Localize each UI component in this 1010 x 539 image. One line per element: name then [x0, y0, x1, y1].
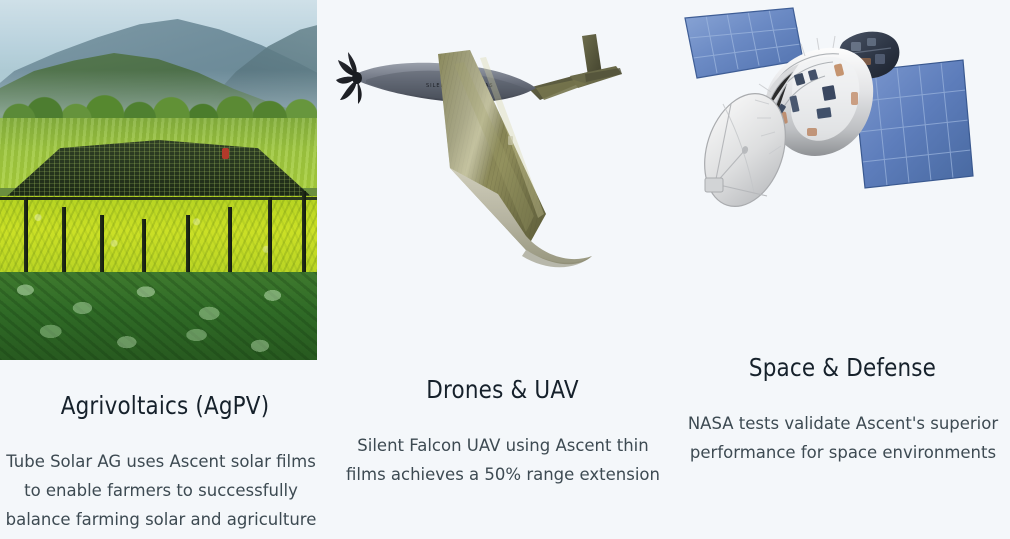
card-space-defense: Space & Defense NASA tests validate Asce…: [675, 0, 1010, 539]
card-drones-uav: SILENT FALCON UAS Drones &: [330, 0, 675, 539]
card-title-space-defense: Space & Defense: [698, 353, 986, 382]
card-agrivoltaics: Agrivoltaics (AgPV) Tube Solar AG uses A…: [0, 0, 330, 539]
foreground-leafy-crop: [0, 272, 317, 360]
card-body-agrivoltaics: Tube Solar AG uses Ascent solar films to…: [0, 447, 326, 534]
feature-cards-page: Agrivoltaics (AgPV) Tube Solar AG uses A…: [0, 0, 1010, 539]
card-title-agrivoltaics: Agrivoltaics (AgPV): [23, 391, 307, 420]
far-wing: [536, 80, 588, 100]
agrivoltaics-farm-photo: [0, 0, 317, 360]
card-body-drones-uav: Silent Falcon UAV using Ascent thin film…: [335, 431, 671, 489]
wing-hardpoint: [508, 136, 513, 145]
farm-worker: [222, 148, 229, 159]
card-title-drones-uav: Drones & UAV: [354, 375, 651, 404]
card-body-space-defense: NASA tests validate Ascent's superior pe…: [681, 409, 1005, 467]
satellite-image: [675, 0, 1010, 240]
propeller: [336, 52, 362, 104]
silent-falcon-uav-image: SILENT FALCON UAS: [330, 18, 675, 288]
